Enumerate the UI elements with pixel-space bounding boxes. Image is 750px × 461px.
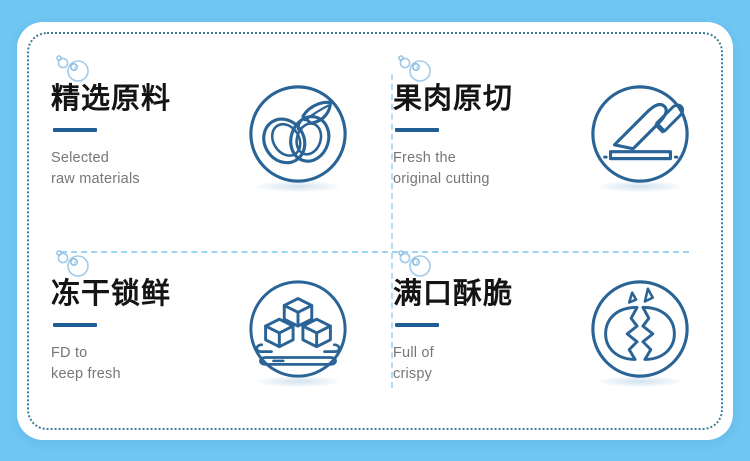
feature-text-block: 果肉原切 Fresh the original cutting — [393, 78, 581, 190]
bubbles-icon — [394, 54, 440, 82]
bubbles-icon — [52, 249, 98, 277]
feature-title: 精选原料 — [51, 84, 239, 114]
bubbles-icon — [52, 54, 98, 82]
feature-icon-wrap — [239, 70, 357, 198]
accent-bar — [53, 323, 97, 327]
feature-text-block: 精选原料 Selected raw materials — [51, 78, 239, 190]
icon-shadow — [597, 181, 683, 192]
feature-subtitle: Fresh the original cutting — [393, 148, 581, 189]
feature-text-block: 冻干锁鲜 FD to keep fresh — [51, 273, 239, 385]
knife-cutting-board-icon — [586, 80, 694, 188]
features-grid: 精选原料 Selected raw materials — [17, 22, 733, 440]
feature-title: 果肉原切 — [393, 84, 581, 114]
ice-cubes-freeze-icon — [244, 275, 352, 383]
feature-icon-wrap — [581, 70, 699, 198]
feature-card: 精选原料 Selected raw materials — [17, 22, 733, 440]
cracked-crispy-icon — [586, 275, 694, 383]
feature-panel-freeze-dry[interactable]: 冻干锁鲜 FD to keep fresh — [33, 231, 375, 426]
feature-grid-banner: 精选原料 Selected raw materials — [0, 0, 750, 461]
bubbles-icon — [394, 249, 440, 277]
feature-subtitle: FD to keep fresh — [51, 343, 239, 384]
icon-shadow — [597, 376, 683, 387]
feature-icon-wrap — [239, 265, 357, 393]
feature-title: 满口酥脆 — [393, 279, 581, 309]
feature-subtitle: Full of crispy — [393, 343, 581, 384]
icon-shadow — [255, 376, 341, 387]
accent-bar — [395, 128, 439, 132]
feature-panel-selected-raw-materials[interactable]: 精选原料 Selected raw materials — [33, 36, 375, 231]
icon-shadow — [255, 181, 341, 192]
feature-icon-wrap — [581, 265, 699, 393]
feature-subtitle: Selected raw materials — [51, 148, 239, 189]
feature-panel-crispy[interactable]: 满口酥脆 Full of crispy — [375, 231, 717, 426]
accent-bar — [53, 128, 97, 132]
feature-text-block: 满口酥脆 Full of crispy — [393, 273, 581, 385]
fruit-plums-icon — [244, 80, 352, 188]
feature-panel-original-cutting[interactable]: 果肉原切 Fresh the original cutting — [375, 36, 717, 231]
feature-title: 冻干锁鲜 — [51, 279, 239, 309]
accent-bar — [395, 323, 439, 327]
